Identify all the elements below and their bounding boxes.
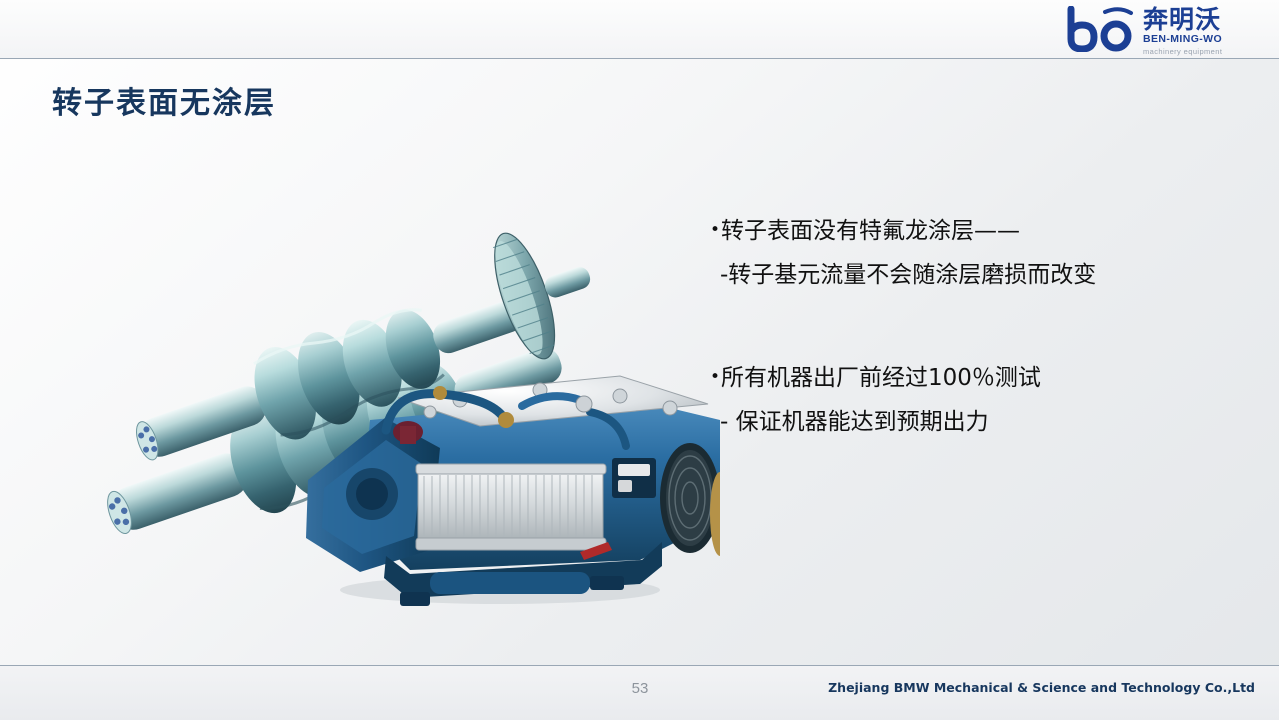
bullet-item-4: - 保证机器能达到预期出力 <box>710 400 1250 444</box>
bo-monogram-logo <box>1061 6 1139 52</box>
logo-english: BEN-MING-WO <box>1143 33 1259 46</box>
bullet-text-3: 所有机器出厂前经过100％测试 <box>721 365 1041 391</box>
header-divider <box>0 58 1279 59</box>
bullet-item-2: -转子基元流量不会随涂层磨损而改变 <box>710 253 1250 297</box>
page-title: 转子表面无涂层 <box>52 78 276 122</box>
logo-tagline: machinery equipment <box>1143 46 1259 57</box>
logo-wordmark: 奔明沃 BEN-MING-WO machinery equipment <box>1143 7 1259 57</box>
bullet-item-1: •转子表面没有特氟龙涂层—— <box>710 208 1250 253</box>
slide: 奔明沃 BEN-MING-WO machinery equipment 转子表面… <box>0 0 1279 720</box>
bullet-text-2: -转子基元流量不会随涂层磨损而改变 <box>720 262 1096 288</box>
artwork-group <box>60 170 720 650</box>
footer-company-text: Zhejiang BMW Mechanical & Science and Te… <box>828 680 1255 695</box>
bullet-spacer <box>710 297 1250 355</box>
bullet-marker-1: • <box>710 220 720 240</box>
bullet-item-3: •所有机器出厂前经过100％测试 <box>710 355 1250 400</box>
page-number: 53 <box>595 680 685 697</box>
company-logo: 奔明沃 BEN-MING-WO machinery equipment <box>1061 4 1261 56</box>
logo-chinese: 奔明沃 <box>1143 7 1259 33</box>
bullet-text-1: 转子表面没有特氟龙涂层—— <box>721 218 1020 244</box>
bullet-marker-3: • <box>710 367 720 387</box>
bullet-list: •转子表面没有特氟龙涂层—— -转子基元流量不会随涂层磨损而改变 •所有机器出厂… <box>710 208 1250 444</box>
bullet-text-4: - 保证机器能达到预期出力 <box>720 409 989 435</box>
